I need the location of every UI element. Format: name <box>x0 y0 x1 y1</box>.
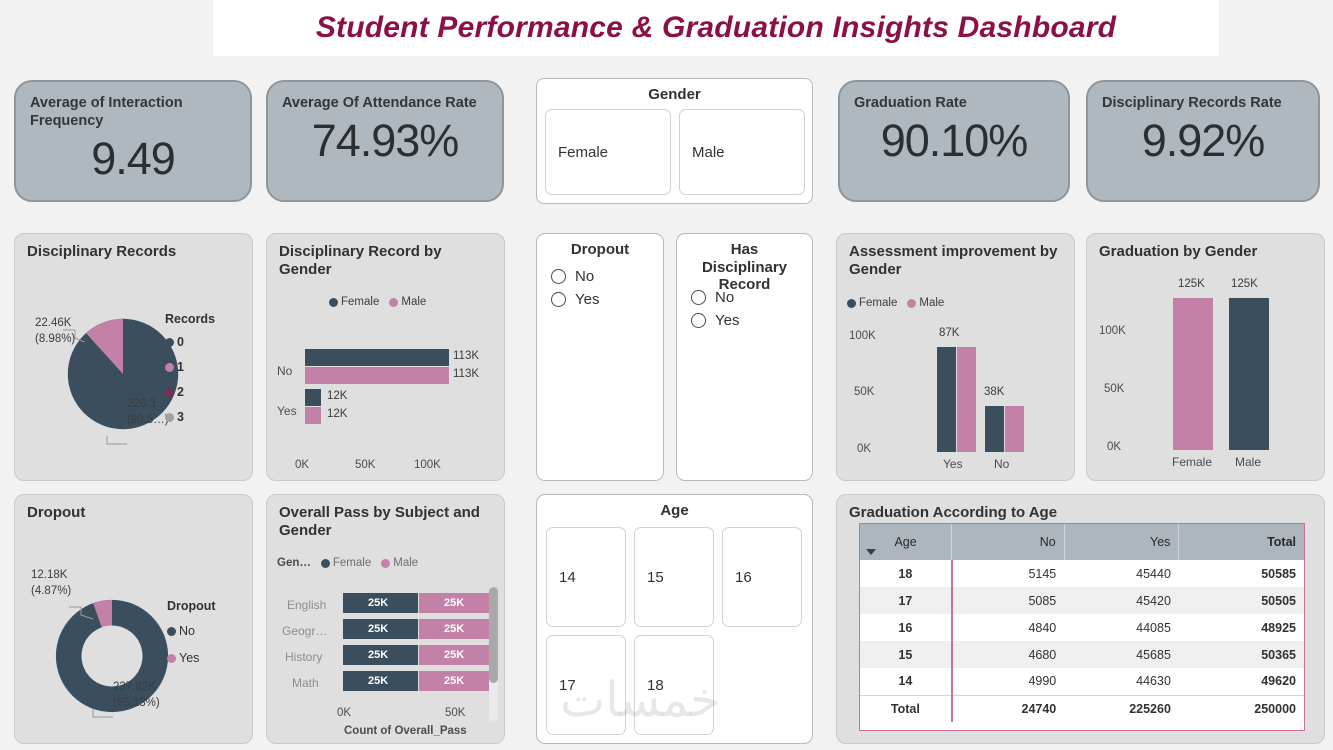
cell-total-total: 250000 <box>1179 695 1304 722</box>
table-row[interactable]: 16 4840 44085 48925 <box>860 614 1304 641</box>
gender-slicer-title: Gender <box>537 79 812 104</box>
kpi-value: 9.92% <box>1102 118 1304 163</box>
kpi-value: 9.49 <box>30 136 236 181</box>
legend-item-3[interactable]: 3 <box>165 410 215 424</box>
cell-no: 4680 <box>952 641 1065 668</box>
legend-label: 1 <box>177 360 184 374</box>
legend-swatch-icon <box>165 413 174 422</box>
kpi-value: 90.10% <box>854 118 1054 163</box>
dropout-slicer-title: Dropout <box>537 234 663 259</box>
bar-value-label: 113K <box>453 368 479 380</box>
legend-item-male[interactable]: Male <box>907 297 944 309</box>
donut-callout-percent: (4.87%) <box>31 585 71 597</box>
radio-icon <box>551 269 566 284</box>
table-row[interactable]: 18 5145 45440 50585 <box>860 560 1304 587</box>
legend-item-male[interactable]: Male <box>389 296 426 308</box>
bar-no-male[interactable] <box>1005 406 1024 452</box>
y-tick-2: 0K <box>1107 441 1121 453</box>
cell-age-total: Total <box>860 695 952 722</box>
bar-female[interactable] <box>1173 298 1213 450</box>
bar-value-label: 25K <box>444 675 464 687</box>
bar-male[interactable] <box>1229 298 1269 450</box>
cell-no: 5085 <box>952 587 1065 614</box>
donut-callout-percent: (95.13%) <box>113 697 160 709</box>
table-row[interactable]: 14 4990 44630 49620 <box>860 668 1304 695</box>
pie-callout-percent: (90.5…) <box>127 414 169 426</box>
legend-item-female[interactable]: Female <box>321 557 371 569</box>
legend-label: Female <box>341 296 379 308</box>
kpi-card-attendance-rate: Average Of Attendance Rate 74.93% <box>266 80 504 202</box>
table-header-label: No <box>1040 535 1056 549</box>
pie-callout-value: 226.3… <box>127 398 167 410</box>
bar-yes-female[interactable] <box>305 389 321 406</box>
bar-value-label: 12K <box>327 408 347 420</box>
age-option-label: 18 <box>647 677 664 694</box>
legend-swatch-icon <box>165 338 174 347</box>
legend-swatch-icon <box>321 559 330 568</box>
gender-slicer: Gender Female Male <box>536 78 813 204</box>
radio-label: No <box>715 289 734 306</box>
bar-value-label: 38K <box>984 386 1004 398</box>
graduation-table: Age No Yes Total <box>860 524 1304 722</box>
table-header-label: Total <box>1267 535 1296 549</box>
cell-yes: 45685 <box>1064 641 1179 668</box>
page-title: Student Performance & Graduation Insight… <box>316 11 1116 45</box>
legend-item-1[interactable]: 1 <box>165 360 215 374</box>
cell-yes: 45420 <box>1064 587 1179 614</box>
x-tick-1: 50K <box>355 459 375 471</box>
bar-value-label: 25K <box>444 623 464 635</box>
kpi-value: 74.93% <box>282 118 488 163</box>
table-header-no[interactable]: No <box>952 524 1065 560</box>
legend-label: 2 <box>177 385 184 399</box>
x-tick-2: 100K <box>414 459 441 471</box>
chart-legend: Female Male <box>329 296 426 308</box>
category-label-yes: Yes <box>943 457 963 471</box>
graduation-according-to-age-card: Graduation According to Age Age No Yes <box>836 494 1325 744</box>
has-disciplinary-option-yes[interactable]: Yes <box>677 309 812 332</box>
age-option-label: 14 <box>559 569 576 586</box>
y-tick-1: 50K <box>854 386 874 398</box>
category-label-math: Math <box>292 676 319 690</box>
category-label-no: No <box>277 364 292 378</box>
age-option-label: 15 <box>647 569 664 586</box>
age-option-label: 16 <box>735 569 752 586</box>
pie-leader-line <box>103 426 173 456</box>
bar-value-label: 25K <box>444 597 464 609</box>
legend-item-2[interactable]: 2 <box>165 385 215 399</box>
y-tick-2: 0K <box>857 443 871 455</box>
radio-icon <box>551 292 566 307</box>
cell-total: 49620 <box>1179 668 1304 695</box>
cell-yes: 44630 <box>1064 668 1179 695</box>
age-option-18[interactable]: 18 <box>634 635 714 735</box>
legend-title: Records <box>165 312 215 326</box>
bar-no-female[interactable] <box>305 349 449 366</box>
chart-title: Disciplinary Records <box>15 234 252 261</box>
gender-option-female[interactable]: Female <box>545 109 671 195</box>
table-total-row: Total 24740 225260 250000 <box>860 695 1304 722</box>
category-label-male: Male <box>1235 455 1261 469</box>
cell-total: 50365 <box>1179 641 1304 668</box>
legend-item-female[interactable]: Female <box>329 296 379 308</box>
title-banner: Student Performance & Graduation Insight… <box>213 0 1219 56</box>
chart-title: Disciplinary Record by Gender <box>267 234 504 278</box>
dropout-option-no[interactable]: No <box>537 265 663 288</box>
category-label-history: History <box>285 650 322 664</box>
table-title: Graduation According to Age <box>837 495 1324 522</box>
legend-label: Female <box>859 297 897 309</box>
legend-label: Yes <box>179 651 199 665</box>
chart-title: Dropout <box>15 495 252 522</box>
kpi-card-disciplinary-records-rate: Disciplinary Records Rate 9.92% <box>1086 80 1320 202</box>
cell-age: 15 <box>860 641 952 668</box>
table-header-row: Age No Yes Total <box>860 524 1304 560</box>
legend-swatch-icon <box>907 299 916 308</box>
has-disciplinary-option-no[interactable]: No <box>677 286 812 309</box>
age-slicer-title: Age <box>537 495 812 520</box>
age-option-17[interactable]: 17 <box>546 635 626 735</box>
donut-legend: Dropout No Yes <box>167 599 216 665</box>
cell-yes: 44085 <box>1064 614 1179 641</box>
dashboard-page: Student Performance & Graduation Insight… <box>0 0 1333 750</box>
disciplinary-record-by-gender-card: Disciplinary Record by Gender Female Mal… <box>266 233 505 481</box>
bar-value-label: 87K <box>939 327 959 339</box>
legend-item-female[interactable]: Female <box>847 297 897 309</box>
cell-age: 16 <box>860 614 952 641</box>
chart-title: Overall Pass by Subject and Gender <box>267 495 504 539</box>
table-container: Age No Yes Total <box>859 523 1305 731</box>
radio-label: Yes <box>715 312 739 329</box>
legend-swatch-icon <box>389 298 398 307</box>
radio-label: Yes <box>575 291 599 308</box>
table-row[interactable]: 15 4680 45685 50365 <box>860 641 1304 668</box>
category-label-geography: Geogr… <box>282 624 327 638</box>
age-option-16[interactable]: 16 <box>722 527 802 627</box>
dropout-slicer: Dropout No Yes <box>536 233 664 481</box>
table-header-label: Yes <box>1150 535 1170 549</box>
bar-value-label: 25K <box>368 649 388 661</box>
age-option-14[interactable]: 14 <box>546 527 626 627</box>
kpi-label: Graduation Rate <box>854 94 1054 112</box>
chart-title: Graduation by Gender <box>1087 234 1324 261</box>
age-option-15[interactable]: 15 <box>634 527 714 627</box>
category-label-no: No <box>994 457 1009 471</box>
age-slicer: Age 14 15 16 17 18 <box>536 494 813 744</box>
cell-yes: 45440 <box>1064 560 1179 587</box>
bar-yes-female[interactable] <box>937 347 956 452</box>
age-option-label: 17 <box>559 677 576 694</box>
disciplinary-records-pie-card: Disciplinary Records 22.46K (8.98%) 226.… <box>14 233 253 481</box>
legend-label: 3 <box>177 410 184 424</box>
kpi-label: Average Of Attendance Rate <box>282 94 488 112</box>
table-header-total[interactable]: Total <box>1179 524 1304 560</box>
bar-yes-male[interactable] <box>957 347 976 452</box>
legend-label: Male <box>919 297 944 309</box>
cell-no: 4990 <box>952 668 1065 695</box>
legend-item-male[interactable]: Male <box>381 557 418 569</box>
legend-label: Male <box>393 557 418 569</box>
x-tick-0: 0K <box>337 707 351 719</box>
cell-total: 50585 <box>1179 560 1304 587</box>
bar-value-label: 25K <box>368 597 388 609</box>
bar-value-label: 25K <box>444 649 464 661</box>
bar-value-label: 25K <box>368 675 388 687</box>
gender-option-label: Male <box>692 144 725 161</box>
legend-label: Female <box>333 557 371 569</box>
cell-no: 4840 <box>952 614 1065 641</box>
legend-swatch-icon <box>167 627 176 636</box>
legend-swatch-icon <box>329 298 338 307</box>
bar-value-label: 12K <box>327 390 347 402</box>
sort-descending-icon[interactable] <box>866 549 876 555</box>
pie-callout-percent: (8.98%) <box>35 333 75 345</box>
overall-pass-card: Overall Pass by Subject and Gender Gen… … <box>266 494 505 744</box>
category-label-yes: Yes <box>277 404 297 418</box>
legend-item-0[interactable]: 0 <box>165 335 215 349</box>
y-tick-0: 100K <box>849 330 876 342</box>
legend-item-yes[interactable]: Yes <box>167 651 216 665</box>
chart-scrollbar-thumb[interactable] <box>489 587 498 683</box>
donut-leader-line <box>67 593 127 625</box>
has-disciplinary-record-slicer: Has Disciplinary Record No Yes <box>676 233 813 481</box>
donut-callout-value: 237.82K <box>113 681 156 693</box>
dropout-option-yes[interactable]: Yes <box>537 288 663 311</box>
table-header-label: Age <box>894 535 916 549</box>
y-tick-1: 50K <box>1104 383 1124 395</box>
legend-label: 0 <box>177 335 184 349</box>
legend-item-no[interactable]: No <box>167 624 216 638</box>
bar-value-label: 125K <box>1178 278 1205 290</box>
legend-swatch-icon <box>165 388 174 397</box>
cell-age: 18 <box>860 560 952 587</box>
legend-swatch-icon <box>167 654 176 663</box>
y-tick-0: 100K <box>1099 325 1126 337</box>
legend-swatch-icon <box>165 363 174 372</box>
graduation-by-gender-card: Graduation by Gender 100K 50K 0K 125K Fe… <box>1086 233 1325 481</box>
cell-total: 48925 <box>1179 614 1304 641</box>
kpi-label: Disciplinary Records Rate <box>1102 94 1304 112</box>
cell-yes-total: 225260 <box>1064 695 1179 722</box>
pie-legend: Records 0 1 2 3 <box>165 312 215 424</box>
cell-no: 5145 <box>952 560 1065 587</box>
kpi-card-graduation-rate: Graduation Rate 90.10% <box>838 80 1070 202</box>
bar-yes-male[interactable] <box>305 407 321 424</box>
chart-legend: Female Male <box>847 297 944 309</box>
radio-icon <box>691 313 706 328</box>
legend-swatch-icon <box>847 299 856 308</box>
legend-title: Gen… <box>277 557 311 569</box>
x-axis-label: Count of Overall_Pass <box>344 725 467 737</box>
cell-total: 50505 <box>1179 587 1304 614</box>
radio-icon <box>691 290 706 305</box>
chart-legend: Gen… Female Male <box>277 557 418 569</box>
assessment-improvement-card: Assessment improvement by Gender Female … <box>836 233 1075 481</box>
chart-title: Assessment improvement by Gender <box>837 234 1074 278</box>
bar-no-male[interactable] <box>305 367 449 384</box>
x-tick-0: 0K <box>295 459 309 471</box>
legend-label: Male <box>401 296 426 308</box>
dropout-donut-card: Dropout 12.18K (4.87%) 237.82K (95.13%) … <box>14 494 253 744</box>
x-tick-1: 50K <box>445 707 465 719</box>
gender-option-male[interactable]: Male <box>679 109 805 195</box>
bar-value-label: 113K <box>453 350 479 362</box>
pie-callout-value: 22.46K <box>35 317 71 329</box>
legend-swatch-icon <box>381 559 390 568</box>
bar-no-female[interactable] <box>985 406 1004 452</box>
category-label-english: English <box>287 598 326 612</box>
cell-age: 14 <box>860 668 952 695</box>
bar-value-label: 25K <box>368 623 388 635</box>
gender-option-label: Female <box>558 144 608 161</box>
cell-age: 17 <box>860 587 952 614</box>
table-header-age[interactable]: Age <box>860 524 952 560</box>
kpi-card-interaction-frequency: Average of Interaction Frequency 9.49 <box>14 80 252 202</box>
table-row[interactable]: 17 5085 45420 50505 <box>860 587 1304 614</box>
legend-label: No <box>179 624 195 638</box>
kpi-label: Average of Interaction Frequency <box>30 94 236 130</box>
legend-title: Dropout <box>167 599 216 613</box>
donut-callout-value: 12.18K <box>31 569 67 581</box>
category-label-female: Female <box>1172 455 1212 469</box>
cell-no-total: 24740 <box>952 695 1065 722</box>
bar-value-label: 125K <box>1231 278 1258 290</box>
radio-label: No <box>575 268 594 285</box>
table-header-yes[interactable]: Yes <box>1064 524 1179 560</box>
